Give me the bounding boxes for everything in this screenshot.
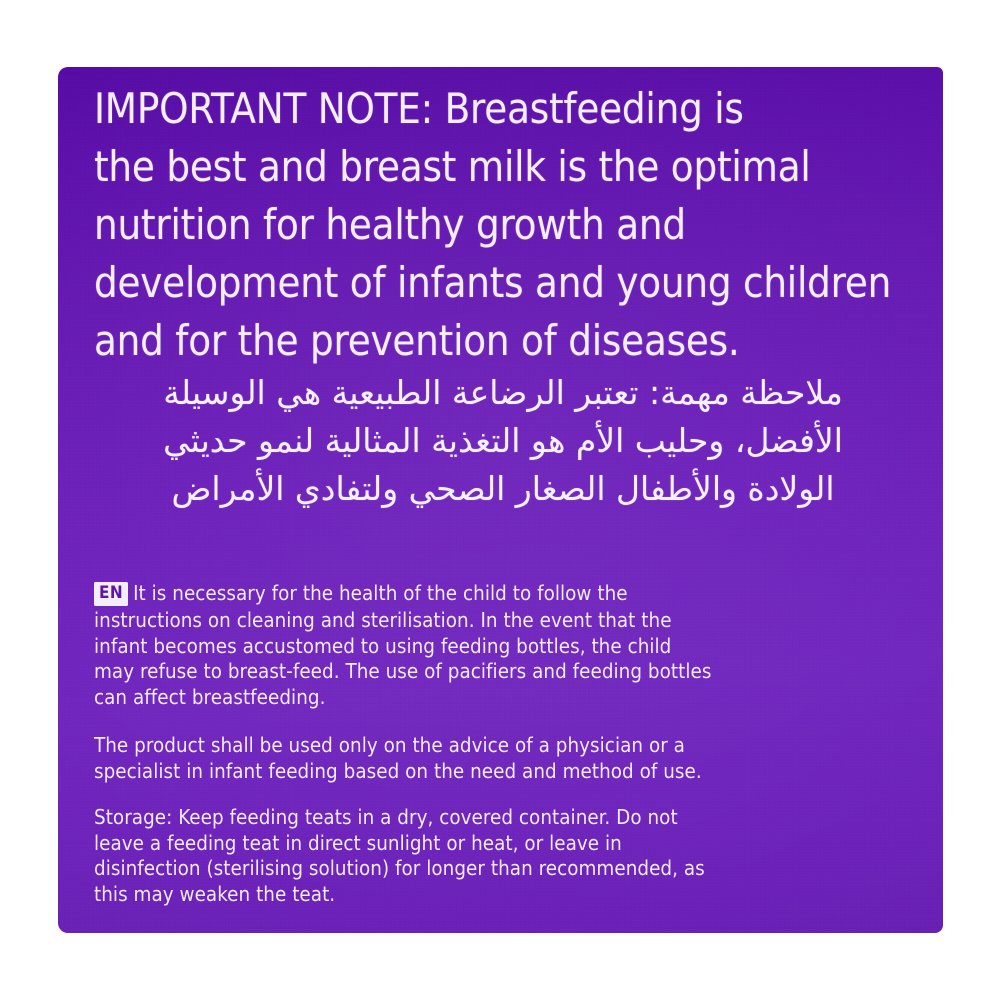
fineprint-three-line-3: disinfection (sterilising solution) for … [94,856,943,882]
language-badge-en: EN [94,582,128,606]
arabic-line-2: الأفضل، وحليب الأم هو التغذية المثالية ل… [88,417,918,465]
headline-line-5: and for the prevention of diseases. [94,312,924,370]
fineprint-line-1-text: It is necessary for the health of the ch… [133,581,628,605]
fineprint-paragraph-one: ENIt is necessary for the health of the … [94,581,943,710]
arabic-line-1: ملاحظة مهمة: تعتبر الرضاعة الطبيعية هي ا… [88,369,918,417]
arabic-line-3: الولادة والأطفال الصغار الصحي ولتفادي ال… [88,465,918,513]
headline-line-3: nutrition for healthy growth and [94,196,924,254]
fineprint-three-line-1: Storage: Keep feeding teats in a dry, co… [94,805,943,831]
fineprint-line-2: instructions on cleaning and sterilisati… [94,608,943,634]
headline-line-2: the best and breast milk is the optimal [94,138,924,196]
important-note-arabic: ملاحظة مهمة: تعتبر الرضاعة الطبيعية هي ا… [88,369,918,513]
fineprint-three-line-2: leave a feeding teat in direct sunlight … [94,831,943,857]
fineprint-three-line-4: this may weaken the teat. [94,882,943,908]
fineprint-line-1: ENIt is necessary for the health of the … [94,581,943,608]
important-note-headline: IMPORTANT NOTE: Breastfeeding is the bes… [94,80,924,370]
purple-label-panel: IMPORTANT NOTE: Breastfeeding is the bes… [58,67,943,933]
label-content: IMPORTANT NOTE: Breastfeeding is the bes… [58,67,943,933]
fineprint-line-5: can affect breastfeeding. [94,685,943,711]
fineprint-two-line-2: specialist in infant feeding based on th… [94,759,943,785]
headline-line-4: development of infants and young childre… [94,254,924,312]
product-label-image: IMPORTANT NOTE: Breastfeeding is the bes… [0,0,1000,1000]
fineprint-line-3: infant becomes accustomed to using feedi… [94,634,943,660]
fineprint-two-line-1: The product shall be used only on the ad… [94,733,943,759]
fineprint-line-4: may refuse to breast-feed. The use of pa… [94,659,943,685]
fineprint-paragraph-two: The product shall be used only on the ad… [94,733,943,784]
headline-line-1: IMPORTANT NOTE: Breastfeeding is [94,80,924,138]
fineprint-paragraph-three: Storage: Keep feeding teats in a dry, co… [94,805,943,907]
